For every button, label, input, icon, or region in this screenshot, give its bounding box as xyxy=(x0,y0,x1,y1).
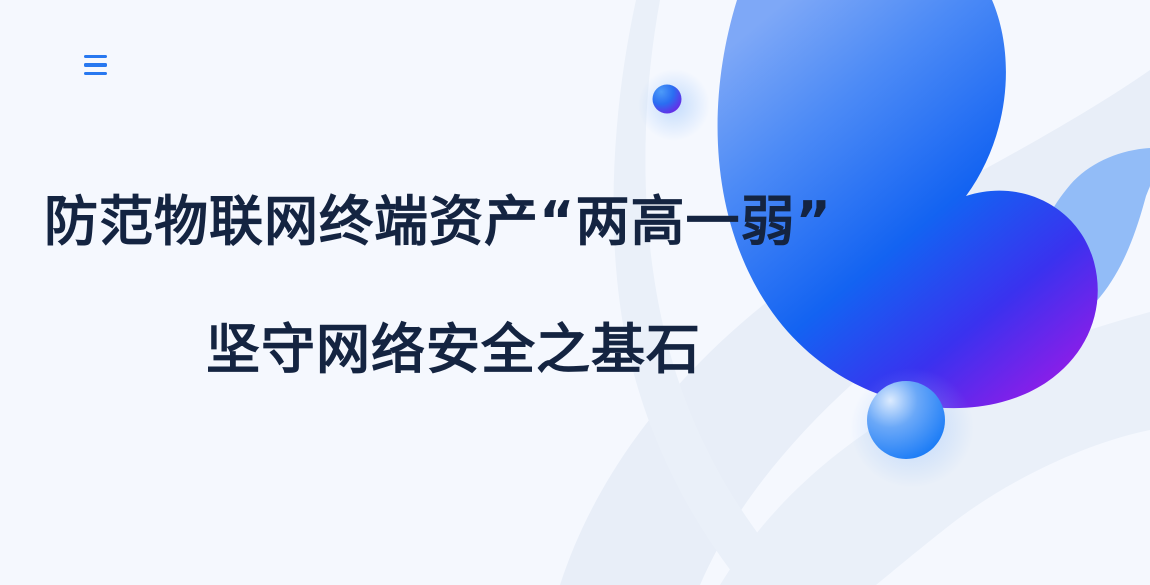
hamburger-menu-icon[interactable] xyxy=(84,50,116,80)
page-title: 防范物联网终端资产“两高一弱” 坚守网络安全之基石 xyxy=(0,186,880,386)
large-sphere-glow xyxy=(850,368,974,488)
menu-bar-middle xyxy=(84,63,107,67)
small-sphere-glow xyxy=(638,69,710,141)
menu-bar-top xyxy=(84,55,107,59)
large-sphere xyxy=(867,381,945,459)
light-blue-arc xyxy=(900,0,1150,349)
title-line-2: 坚守网络安全之基石 xyxy=(206,314,880,386)
title-line-1: 防范物联网终端资产“两高一弱” xyxy=(44,186,880,258)
small-sphere xyxy=(653,85,682,114)
menu-bar-bottom xyxy=(84,72,107,76)
slide-canvas: 防范物联网终端资产“两高一弱” 坚守网络安全之基石 xyxy=(0,0,1150,585)
